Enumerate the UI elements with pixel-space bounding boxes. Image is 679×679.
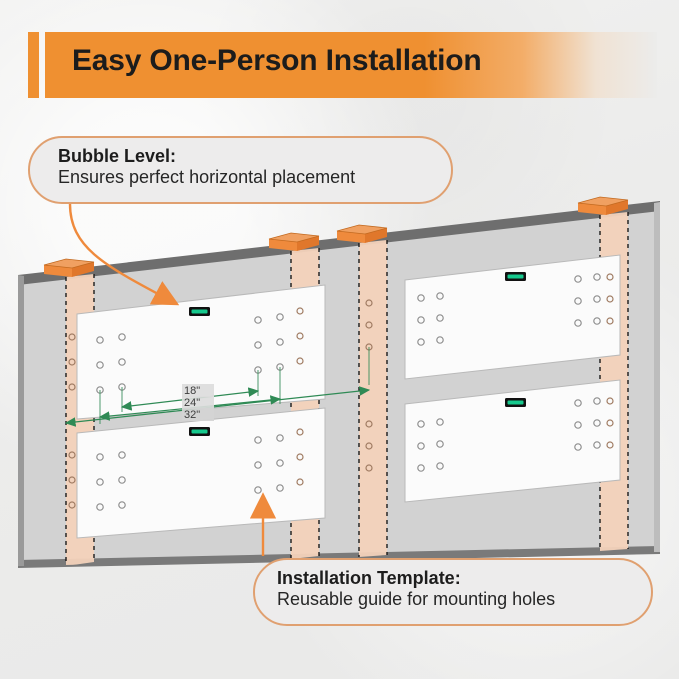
- callout-bubble-level-title: Bubble Level:: [58, 146, 451, 167]
- dimension-labels: 18" 24" 32": [182, 384, 214, 421]
- callout-bubble-level-subtitle: Ensures perfect horizontal placement: [58, 167, 451, 189]
- bubble-level-2: [189, 427, 210, 436]
- dimension-label-32: 32": [184, 409, 200, 421]
- dimension-label-24: 24": [184, 397, 200, 409]
- dimension-label-18: 18": [184, 385, 200, 397]
- stud-3: [359, 240, 387, 557]
- callout-installation-template-subtitle: Reusable guide for mounting holes: [277, 589, 651, 611]
- callout-installation-template-title: Installation Template:: [277, 568, 651, 589]
- page-root: Easy One-Person Installation: [0, 0, 679, 679]
- bubble-level-3: [505, 272, 526, 281]
- bubble-level-1: [189, 307, 210, 316]
- callout-bubble-level: Bubble Level: Ensures perfect horizontal…: [28, 136, 453, 204]
- bubble-level-4: [505, 398, 526, 407]
- callout-installation-template: Installation Template: Reusable guide fo…: [253, 558, 653, 626]
